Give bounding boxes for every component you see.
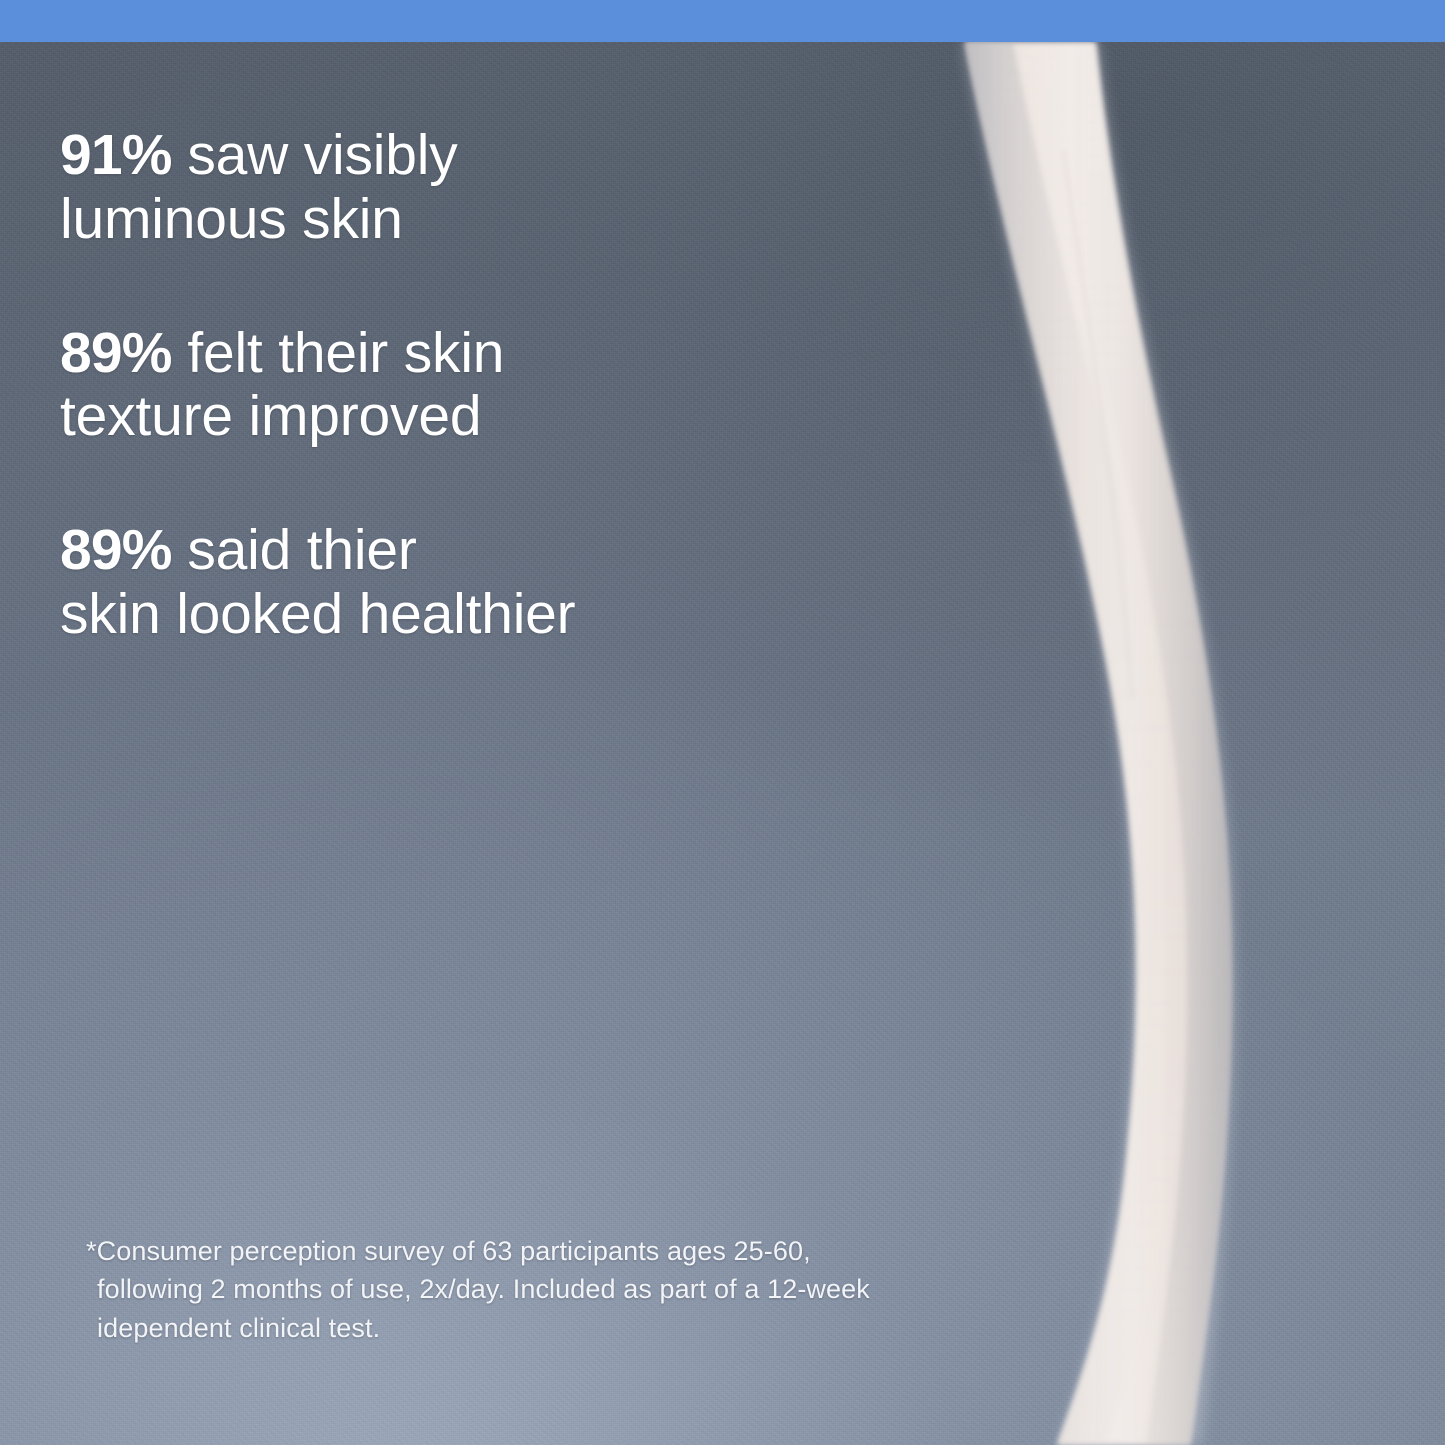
top-accent-bar [0, 0, 1445, 42]
stat-claim-line-1: felt their skin [172, 321, 505, 385]
stat-claim-line-1: said thier [172, 518, 417, 582]
stat-percent-value: 91% [60, 123, 172, 187]
clinical-results-panel: 91% saw visibly luminous skin 89% felt t… [0, 0, 1445, 1445]
statistics-list: 91% saw visibly luminous skin 89% felt t… [60, 124, 820, 647]
stat-claim-line-1: saw visibly [172, 123, 458, 187]
stat-percent-value: 89% [60, 518, 172, 582]
stat-item-healthier-skin: 89% said thier skin looked healthier [60, 519, 820, 647]
stat-percent-value: 89% [60, 321, 172, 385]
stat-claim-line-2: luminous skin [60, 188, 820, 252]
stat-claim-line-2: texture improved [60, 385, 820, 449]
survey-disclaimer-footnote: *Consumer perception survey of 63 partic… [86, 1232, 897, 1347]
stat-item-luminous-skin: 91% saw visibly luminous skin [60, 124, 820, 252]
stat-claim-line-2: skin looked healthier [60, 583, 820, 647]
stat-item-skin-texture: 89% felt their skin texture improved [60, 322, 820, 450]
